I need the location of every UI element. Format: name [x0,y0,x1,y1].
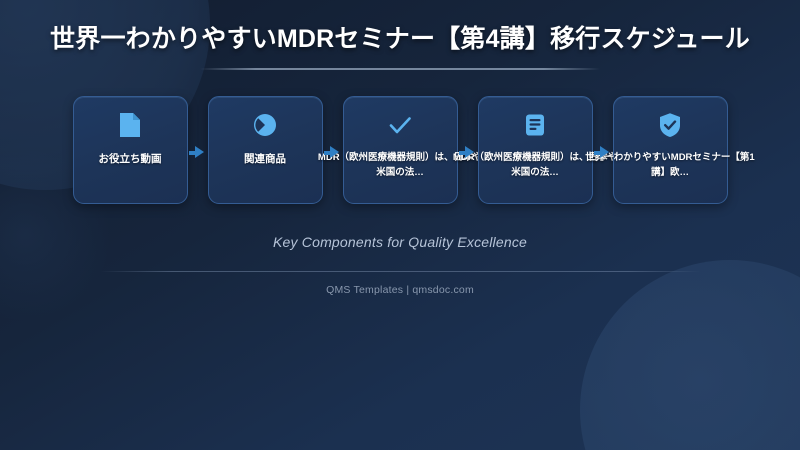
arrow-right-icon [323,96,343,204]
process-flow: お役立ち動画 関連商品 [0,96,800,206]
flow-card-1[interactable]: お役立ち動画 [73,96,188,204]
flow-card-4[interactable]: MDR（欧州医療機器規則）は、日本や米国の法… [478,96,593,204]
page-title: 世界一わかりやすいMDRセミナー【第4講】移行スケジュール [0,24,800,54]
arrow-right-icon [458,96,478,204]
title-divider [200,68,600,70]
slide-canvas: 世界一わかりやすいMDRセミナー【第4講】移行スケジュール お役立ち動画 [0,0,800,450]
document-lines-icon [520,110,550,140]
flow-card-5[interactable]: 世界一わかりやすいMDRセミナー【第1講】欧… [613,96,728,204]
slide-header: 世界一わかりやすいMDRセミナー【第4講】移行スケジュール [0,24,800,70]
pie-chart-icon [250,110,280,140]
document-icon [115,110,145,140]
subtitle: Key Components for Quality Excellence [0,234,800,250]
arrow-right-icon [593,96,613,204]
shield-check-icon [655,110,685,140]
arrow-right-icon [188,96,208,204]
flow-card-3[interactable]: MDR（欧州医療機器規則）は、日本や米国の法… [343,96,458,204]
check-icon [385,110,415,140]
footer-divider [100,271,700,272]
flow-card-2[interactable]: 関連商品 [208,96,323,204]
footer-attribution: QMS Templates | qmsdoc.com [0,284,800,296]
